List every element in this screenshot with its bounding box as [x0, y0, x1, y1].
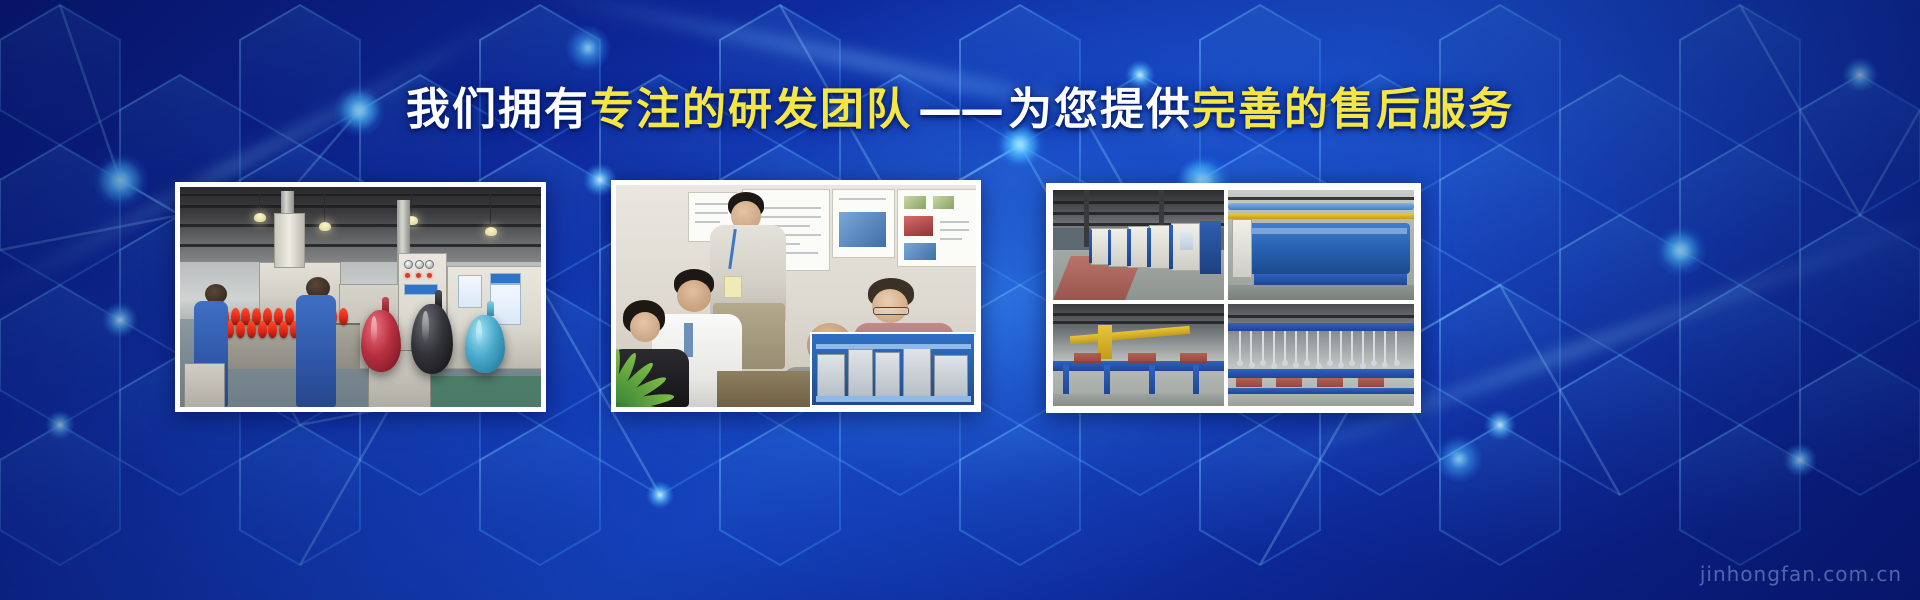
collage-cell-conveyor-tunnel: [1226, 188, 1416, 302]
glow-node-f: [1656, 226, 1706, 276]
collage-cell-workshop: [1051, 188, 1226, 302]
glow-node-h: [1436, 436, 1482, 482]
machine-photo-inset: [810, 332, 976, 407]
glow-node-g: [566, 26, 610, 70]
palm-plant: [616, 335, 698, 407]
site-watermark: jinhongfan.com.cn: [1700, 562, 1902, 586]
headline-dash: ——: [912, 84, 1008, 135]
vase-red: [361, 310, 401, 372]
vase-black: [411, 304, 453, 374]
production-line-photo-image: [180, 187, 541, 407]
headline-segment-3: 为您提供: [1008, 84, 1192, 135]
collage-cell-conveyor-line: [1051, 302, 1226, 408]
vase-cyan: [465, 315, 505, 373]
headline-segment-1: 我们拥有: [406, 84, 590, 135]
team-meeting-photo[interactable]: [611, 180, 981, 412]
factory-equipment-collage-image: [1051, 188, 1416, 408]
headline-segment-4: 完善的售后服务: [1192, 84, 1514, 135]
team-meeting-photo-image: [616, 185, 976, 407]
promo-banner: 我们拥有专注的研发团队——为您提供完善的售后服务: [0, 0, 1920, 600]
production-line-photo[interactable]: [175, 182, 546, 412]
glow-node-a: [94, 154, 148, 208]
headline-segment-2: 专注的研发团队: [590, 84, 912, 135]
collage-cell-hanging-line: [1226, 302, 1416, 408]
page-title: 我们拥有专注的研发团队——为您提供完善的售后服务: [0, 82, 1920, 138]
factory-equipment-collage[interactable]: [1046, 183, 1421, 413]
